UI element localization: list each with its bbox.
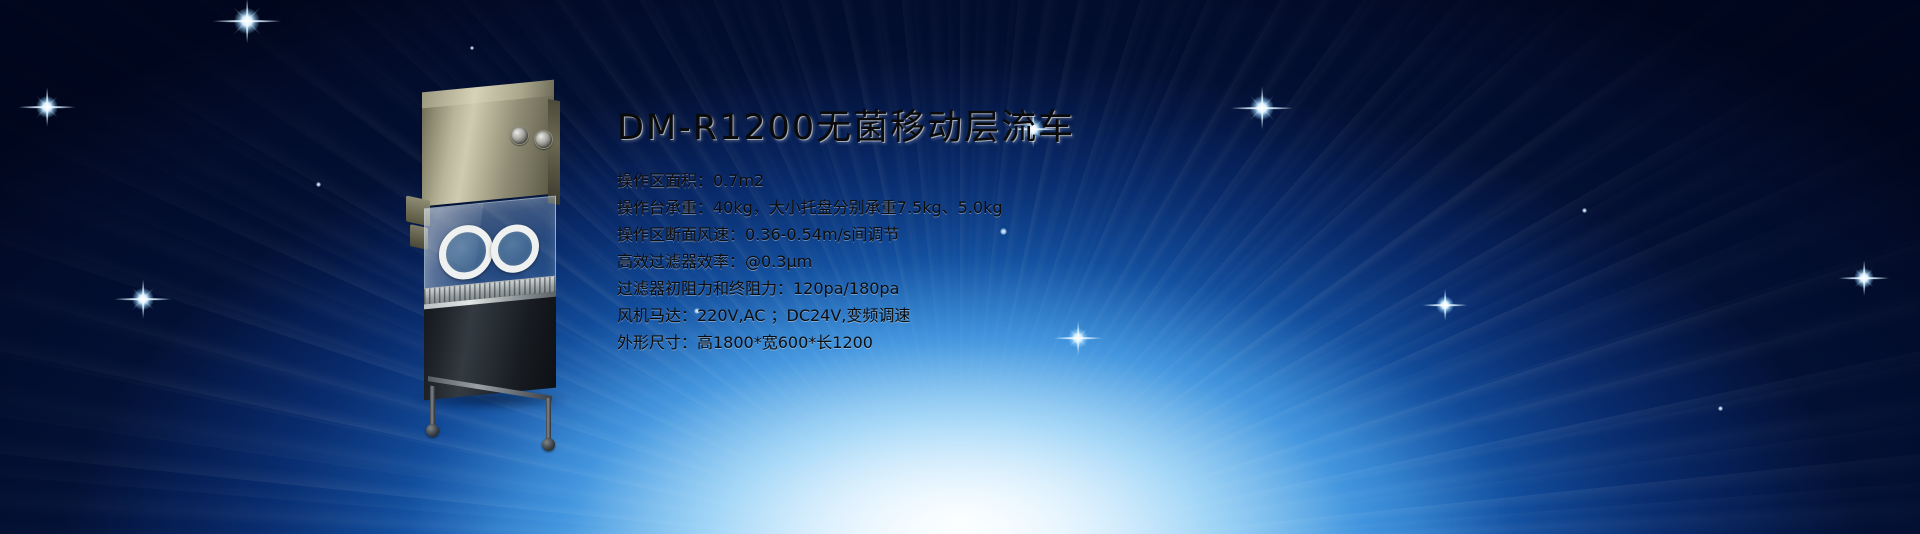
glove-port xyxy=(491,222,539,275)
product-text-block: DM-R1200无菌移动层流车 操作区面积：0.7m2 操作台承重：40kg，大… xyxy=(617,108,1517,356)
spec-list: 操作区面积：0.7m2 操作台承重：40kg，大小托盘分别承重7.5kg、5.0… xyxy=(617,167,1517,356)
spec-line: 过滤器初阻力和终阻力：120pa/180pa xyxy=(617,275,1517,302)
pressure-gauge-icon xyxy=(534,130,553,149)
spec-line: 操作区断面风速：0.36-0.54m/s间调节 xyxy=(617,221,1517,248)
spec-line: 风机马达：220V,AC ；DC24V,变频调速 xyxy=(617,302,1517,329)
product-image xyxy=(400,86,580,404)
spec-line: 操作台承重：40kg，大小托盘分别承重7.5kg、5.0kg xyxy=(617,194,1517,221)
caster-wheel xyxy=(426,424,439,437)
cart-leg xyxy=(546,398,551,443)
cabinet-lower-body xyxy=(424,292,556,401)
spec-line: 外形尺寸：高1800*宽600*长1200 xyxy=(617,329,1517,356)
banner-stage: DM-R1200无菌移动层流车 操作区面积：0.7m2 操作台承重：40kg，大… xyxy=(0,0,1920,534)
product-title: DM-R1200无菌移动层流车 xyxy=(617,108,1517,148)
spec-line: 高效过滤器效率：@0.3μm xyxy=(617,248,1517,275)
pressure-gauge-icon xyxy=(510,126,529,145)
cabinet-right-side xyxy=(548,99,560,205)
spec-line: 操作区面积：0.7m2 xyxy=(617,167,1517,194)
caster-wheel xyxy=(542,438,555,451)
